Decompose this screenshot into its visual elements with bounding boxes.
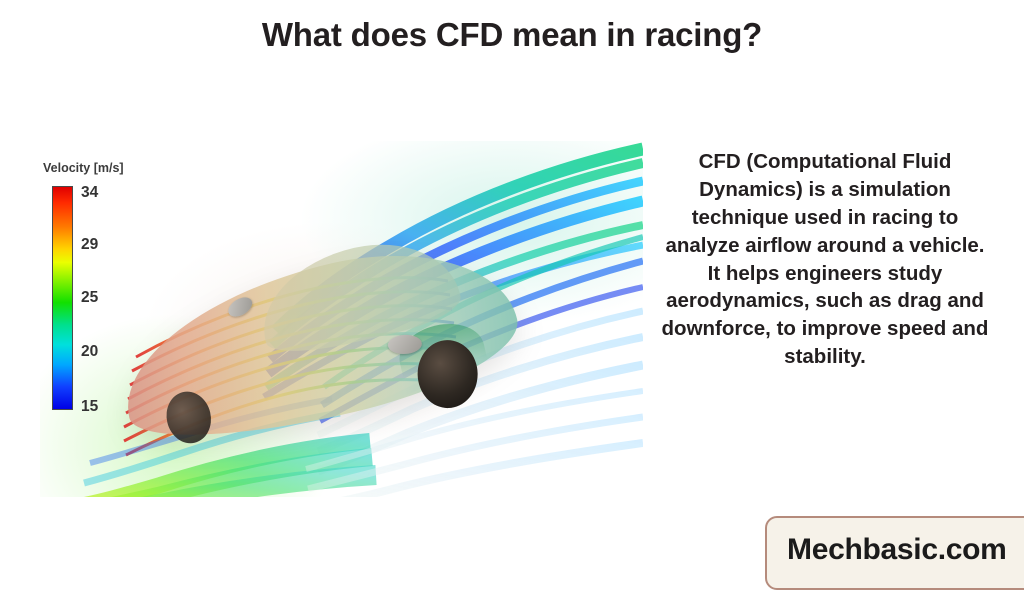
legend-tick-15: 15 [81, 399, 98, 415]
legend-tick-34: 34 [81, 185, 98, 201]
legend-tick-29: 29 [81, 237, 98, 253]
legend-colorbar [52, 186, 73, 410]
page-title: What does CFD mean in racing? [0, 16, 1024, 54]
watermark-label: Mechbasic.com [787, 533, 1007, 567]
cfd-simulation-figure: Velocity [m/s] 34 29 25 20 15 [40, 141, 643, 497]
legend-title: Velocity [m/s] [43, 161, 124, 175]
watermark-badge: Mechbasic.com [765, 516, 1024, 590]
description-paragraph: CFD (Computational Fluid Dynamics) is a … [655, 148, 995, 371]
front-wheel [417, 340, 478, 409]
legend-tick-20: 20 [81, 344, 98, 360]
legend-tick-25: 25 [81, 290, 98, 306]
velocity-legend: Velocity [m/s] 34 29 25 20 15 [43, 161, 178, 441]
